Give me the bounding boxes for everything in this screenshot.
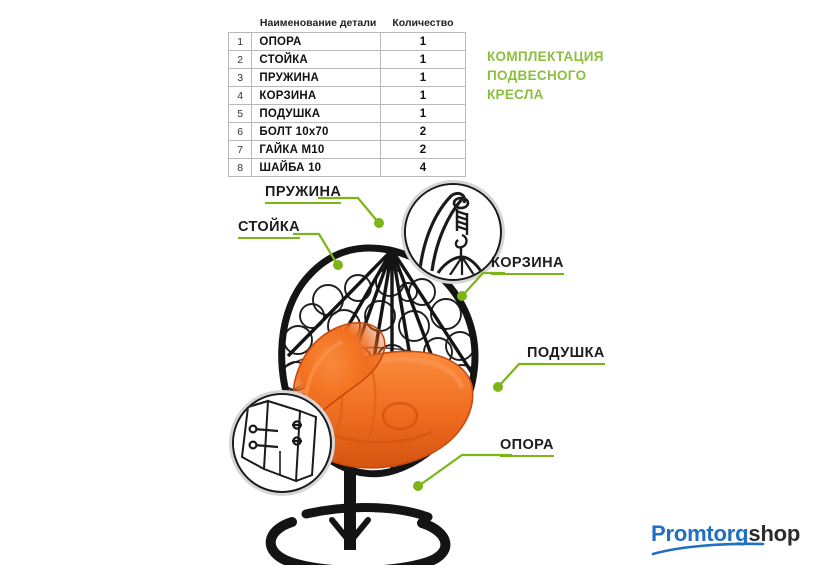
row-index: 4 — [229, 87, 252, 105]
row-part-name: ГАЙКА М10 — [252, 141, 380, 159]
row-quantity: 1 — [380, 51, 465, 69]
row-index: 3 — [229, 69, 252, 87]
row-quantity: 2 — [380, 141, 465, 159]
table-row: 5 ПОДУШКА 1 — [229, 105, 466, 123]
table-row: 4 КОРЗИНА 1 — [229, 87, 466, 105]
table-row: 6 БОЛТ 10х70 2 — [229, 123, 466, 141]
spring-hook-detail-icon — [406, 185, 496, 275]
kit-heading-line-2: ПОДВЕСНОГО — [487, 66, 647, 85]
promtorgshop-logo[interactable]: Promtorgshop — [651, 522, 821, 556]
poster-canvas: Наименование детали Количество 1 ОПОРА 1… — [0, 0, 840, 573]
kit-heading-line-3: КРЕСЛА — [487, 85, 647, 104]
row-index: 1 — [229, 33, 252, 51]
callout-label-cushion: ПОДУШКА — [527, 345, 605, 365]
column-header-qty: Количество — [380, 16, 465, 33]
kit-heading: КОМПЛЕКТАЦИЯ ПОДВЕСНОГО КРЕСЛА — [487, 47, 647, 104]
row-index: 2 — [229, 51, 252, 69]
row-part-name: КОРЗИНА — [252, 87, 380, 105]
table-row: 1 ОПОРА 1 — [229, 33, 466, 51]
table-row: 7 ГАЙКА М10 2 — [229, 141, 466, 159]
row-quantity: 1 — [380, 87, 465, 105]
logo-swoosh-icon — [651, 542, 771, 556]
row-part-name: ПРУЖИНА — [252, 69, 380, 87]
callout-label-support: ОПОРА — [500, 437, 554, 457]
table-row: 3 ПРУЖИНА 1 — [229, 69, 466, 87]
row-part-name: СТОЙКА — [252, 51, 380, 69]
bolt-assembly-detail-icon — [234, 395, 326, 487]
column-header-name: Наименование детали — [252, 16, 380, 33]
parts-table: Наименование детали Количество 1 ОПОРА 1… — [228, 16, 466, 177]
row-index: 7 — [229, 141, 252, 159]
callout-label-spring: ПРУЖИНА — [265, 184, 341, 204]
kit-heading-line-1: КОМПЛЕКТАЦИЯ — [487, 47, 647, 66]
table-row: 2 СТОЙКА 1 — [229, 51, 466, 69]
callout-label-basket: КОРЗИНА — [491, 255, 564, 275]
column-header-index — [229, 16, 252, 33]
bolt-detail-inset — [232, 393, 332, 493]
row-part-name: БОЛТ 10х70 — [252, 123, 380, 141]
row-part-name: ОПОРА — [252, 33, 380, 51]
stand-base-ring — [271, 508, 446, 565]
table-header-row: Наименование детали Количество — [229, 16, 466, 33]
row-part-name: ПОДУШКА — [252, 105, 380, 123]
leader-line-post — [293, 228, 353, 278]
row-quantity: 1 — [380, 33, 465, 51]
row-index: 6 — [229, 123, 252, 141]
row-quantity: 2 — [380, 123, 465, 141]
row-quantity: 1 — [380, 105, 465, 123]
row-index: 5 — [229, 105, 252, 123]
callout-label-post: СТОЙКА — [238, 219, 300, 239]
row-quantity: 1 — [380, 69, 465, 87]
